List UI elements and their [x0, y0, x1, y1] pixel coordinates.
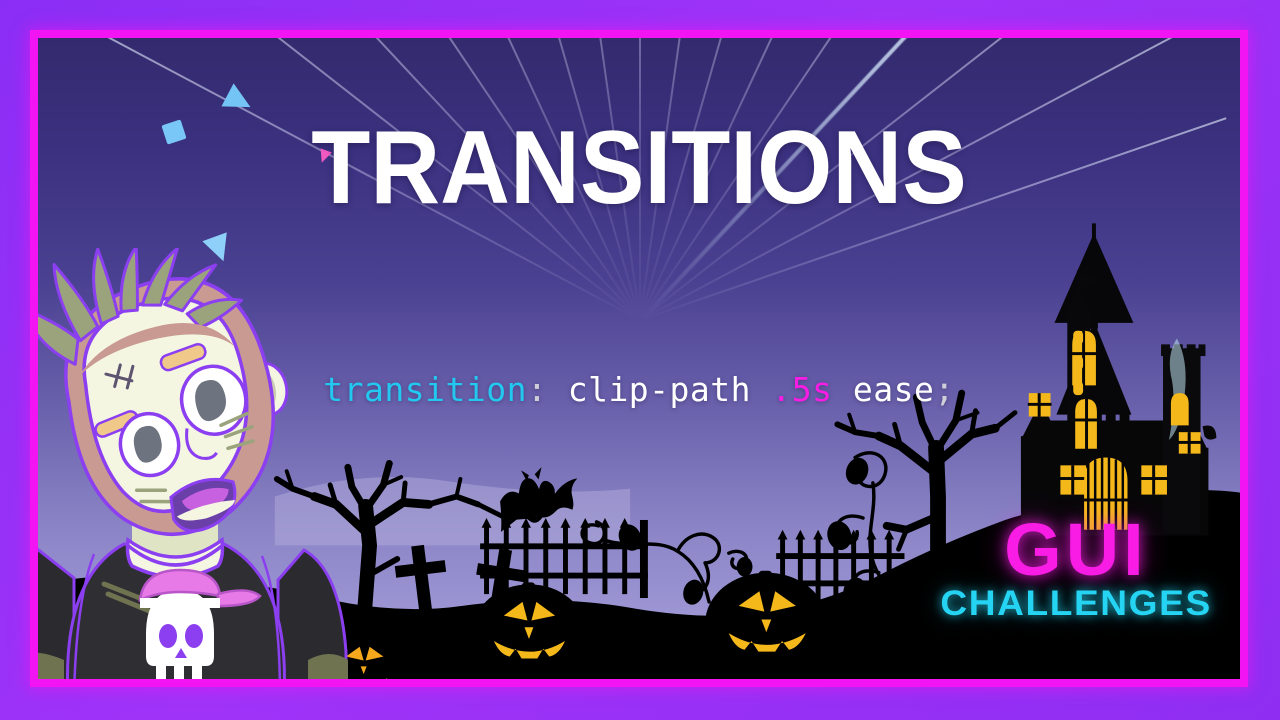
- code-semicolon: ;: [934, 370, 954, 409]
- logo-gui-text: GUI: [948, 516, 1204, 584]
- logo-challenges-text: CHALLENGES: [940, 586, 1211, 621]
- halloween-scene: TRANSITIONS transition: clip-path .5s ea…: [38, 38, 1240, 679]
- code-value: clip-path: [568, 370, 751, 409]
- gui-challenges-logo: GUI CHALLENGES: [948, 516, 1204, 621]
- code-duration: .5s: [771, 370, 832, 409]
- zombie-host-character: [38, 248, 388, 679]
- page-title: TRANSITIONS: [80, 116, 1198, 220]
- video-thumbnail-frame: TRANSITIONS transition: clip-path .5s ea…: [30, 30, 1248, 687]
- code-easing: ease: [853, 370, 934, 409]
- character-head: [38, 248, 312, 557]
- code-colon: :: [527, 370, 547, 409]
- jack-o-lantern-left: [473, 582, 586, 678]
